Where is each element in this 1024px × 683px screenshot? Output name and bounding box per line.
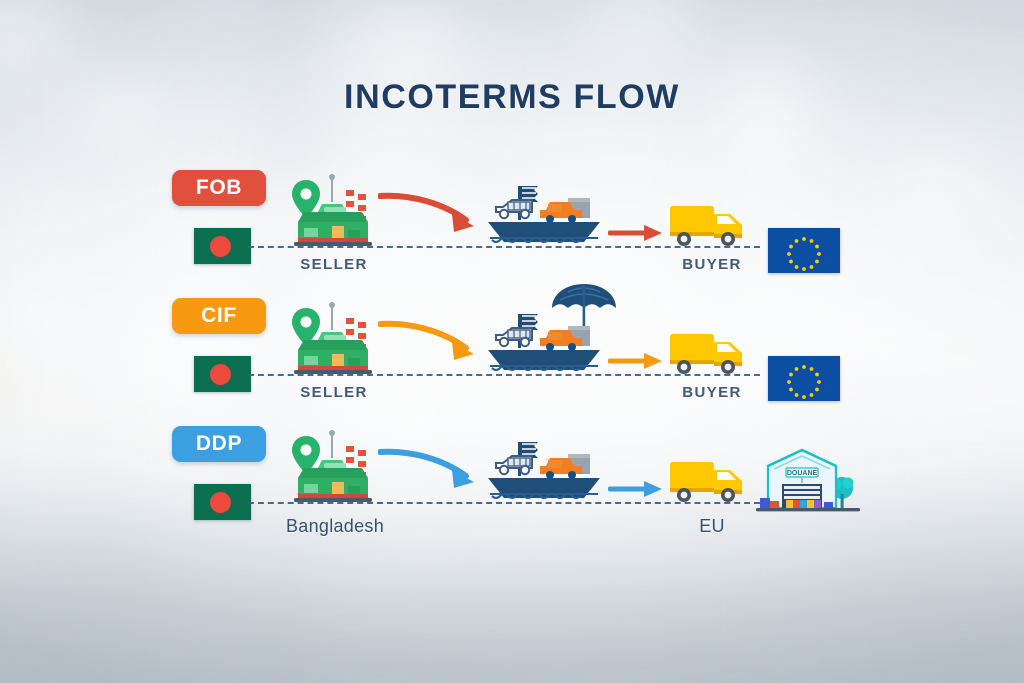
cargo-ship-icon [482,430,606,506]
node-label-buyer: BUYER [652,384,772,401]
node-label-buyer: BUYER [652,256,772,273]
infographic-content: INCOTERMS FLOW FOB [0,0,1024,683]
node-label-seller: SELLER [254,256,414,273]
incoterm-badge-fob[interactable]: FOB [172,170,266,206]
node-label-seller: SELLER [254,384,414,401]
transfer-arrow-straight [608,222,664,244]
node-label-origin-country: Bangladesh [252,516,418,537]
bangladesh-flag [194,356,251,392]
cargo-ship-icon [482,302,606,378]
customs-sign-label: DOUANE [787,470,818,477]
factory-icon [284,430,380,506]
delivery-truck-icon [668,456,750,506]
incoterm-row-ddp: DDP [0,416,1024,546]
infographic-canvas: INCOTERMS FLOW FOB [0,0,1024,683]
transfer-arrow-straight [608,478,664,500]
cargo-ship-icon [482,174,606,250]
eu-flag [768,228,840,273]
transfer-arrow-curved [378,316,488,362]
delivery-truck-icon [668,328,750,378]
page-title: INCOTERMS FLOW [0,78,1024,117]
delivery-truck-icon [668,200,750,250]
factory-icon [284,174,380,250]
node-label-destination-region: EU [652,516,772,537]
transfer-arrow-curved [378,444,488,490]
transfer-arrow-curved [378,188,488,234]
incoterm-row-fob: FOB [0,160,1024,290]
bangladesh-flag [194,228,251,264]
factory-icon [284,302,380,378]
transfer-arrow-straight [608,350,664,372]
incoterm-badge-cif[interactable]: CIF [172,298,266,334]
bangladesh-flag [194,484,251,520]
incoterm-badge-ddp[interactable]: DDP [172,426,266,462]
incoterm-row-cif: CIF [0,288,1024,418]
eu-flag [768,356,840,401]
customs-warehouse-icon: DOUANE [756,444,860,516]
